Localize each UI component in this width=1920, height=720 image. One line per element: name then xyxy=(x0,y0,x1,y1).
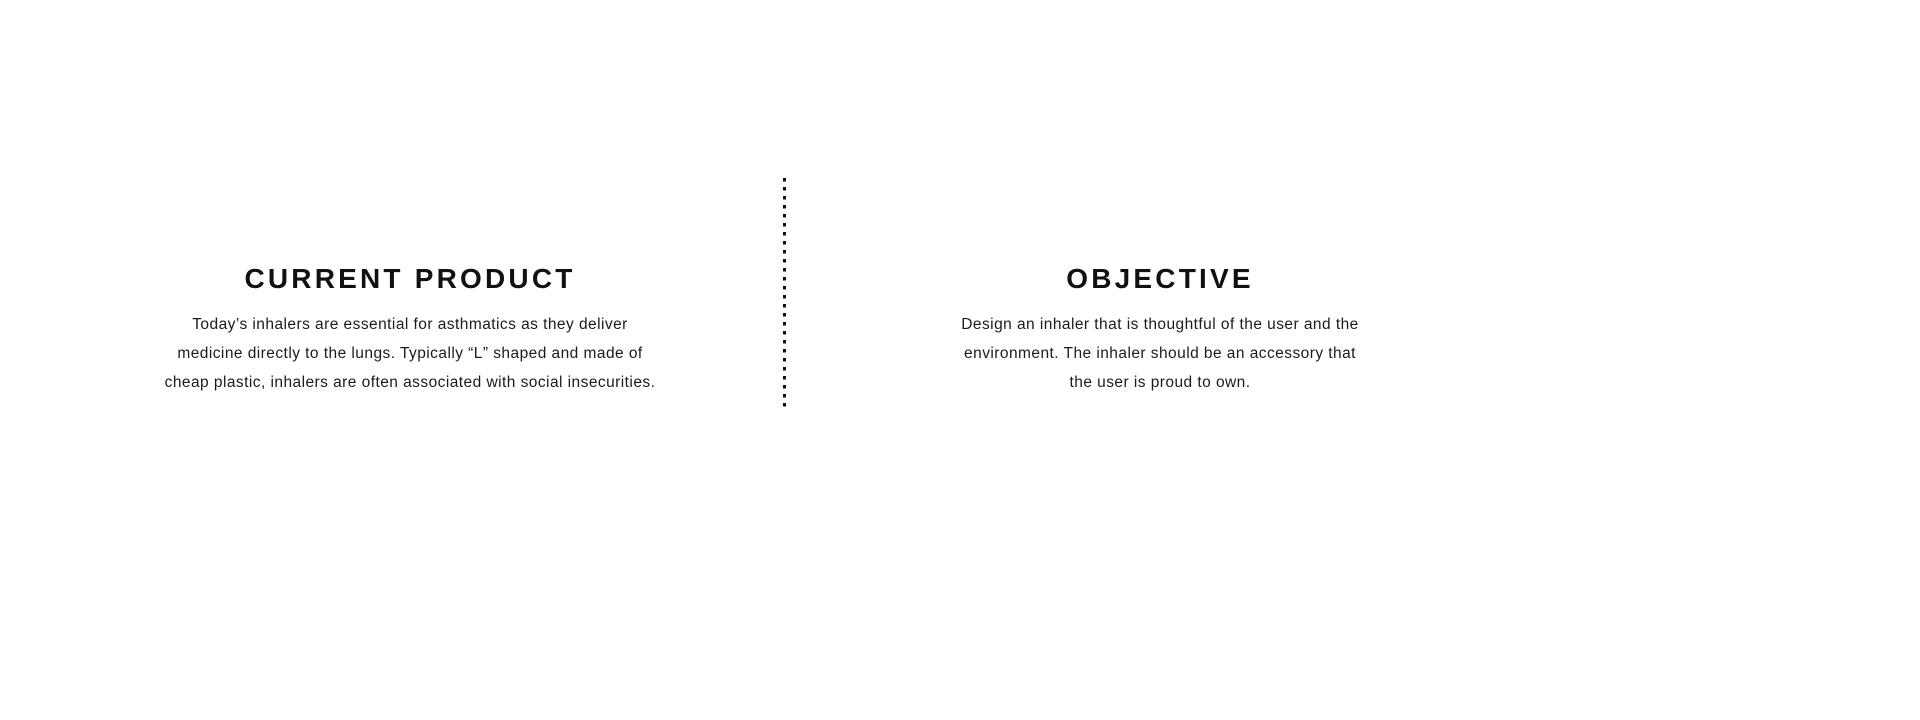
two-column-layout: CURRENT PRODUCT Today’s inhalers are ess… xyxy=(0,0,1920,720)
dotted-divider xyxy=(783,178,786,407)
objective-heading: OBJECTIVE xyxy=(860,264,1460,293)
current-product-heading: CURRENT PRODUCT xyxy=(110,264,710,293)
column-objective: OBJECTIVE Design an inhaler that is thou… xyxy=(860,264,1460,398)
objective-body: Design an inhaler that is thoughtful of … xyxy=(960,311,1360,397)
column-current-product: CURRENT PRODUCT Today’s inhalers are ess… xyxy=(110,264,710,398)
slide-canvas: CURRENT PRODUCT Today’s inhalers are ess… xyxy=(0,0,1920,720)
current-product-body: Today’s inhalers are essential for asthm… xyxy=(160,311,660,397)
